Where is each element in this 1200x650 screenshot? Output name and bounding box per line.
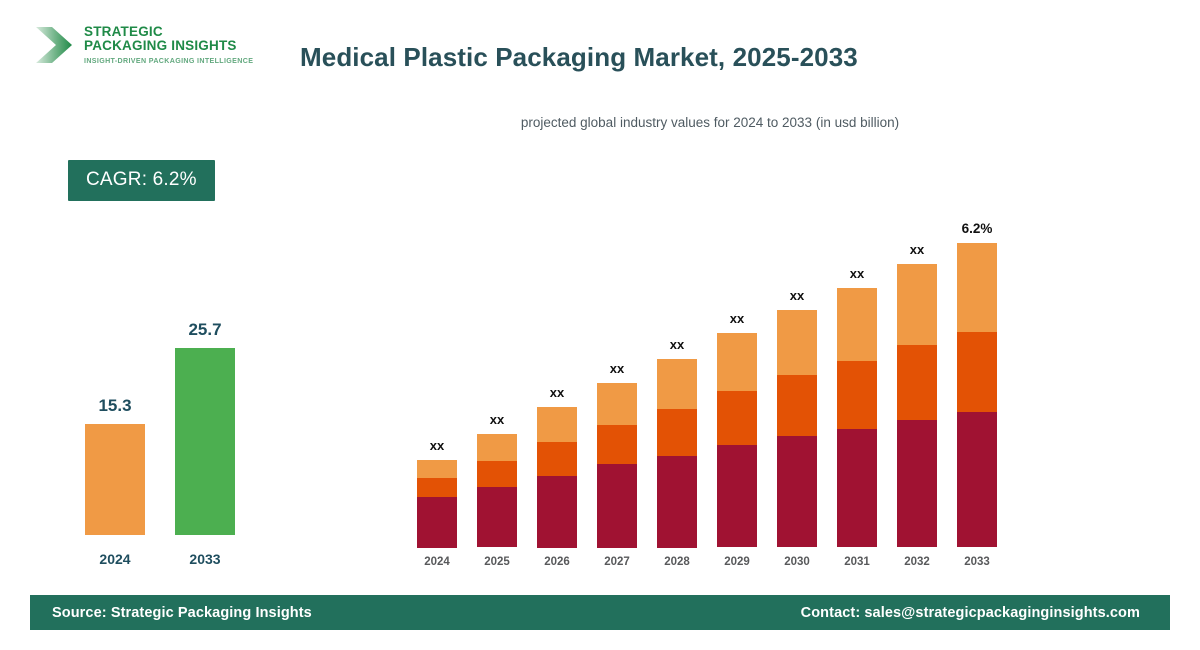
forecast-bar-segment-segment-3 (597, 383, 637, 425)
forecast-bar-segment-segment-3 (837, 288, 877, 361)
forecast-stacked-bar (717, 333, 757, 547)
forecast-bar-segment-segment-1 (537, 476, 577, 548)
forecast-bar-segment-segment-3 (477, 434, 517, 461)
footer-bar: Source: Strategic Packaging Insights Con… (30, 595, 1170, 630)
forecast-stacked-bar (477, 434, 517, 547)
forecast-bar-value-label: 6.2% (917, 221, 1037, 236)
forecast-bar-segment-segment-2 (657, 409, 697, 456)
forecast-stacked-bar (777, 310, 817, 547)
forecast-bar-segment-segment-2 (537, 442, 577, 476)
page-title: Medical Plastic Packaging Market, 2025-2… (300, 42, 1120, 73)
forecast-bar-segment-segment-3 (957, 243, 997, 332)
endpoint-comparison-chart: 15.3202425.72033 (50, 300, 300, 570)
endpoint-bar-value-label: 25.7 (145, 320, 265, 340)
forecast-bar-segment-segment-3 (537, 407, 577, 442)
forecast-bar-segment-segment-1 (837, 429, 877, 547)
forecast-stacked-bar (417, 460, 457, 547)
forecast-bar-group: xx2024 (417, 227, 457, 547)
forecast-bar-segment-segment-1 (417, 497, 457, 548)
logo-line-2: PACKAGING INSIGHTS (84, 39, 253, 53)
infographic-canvas: STRATEGIC PACKAGING INSIGHTS INSIGHT-DRI… (0, 0, 1200, 650)
endpoint-bar-group: 25.72033 (175, 335, 235, 535)
logo-tagline: INSIGHT-DRIVEN PACKAGING INTELLIGENCE (84, 58, 253, 65)
forecast-stacked-bar (837, 288, 877, 547)
forecast-bar-segment-segment-1 (477, 487, 517, 547)
forecast-bar-group: xx2026 (537, 227, 577, 547)
forecast-bar-segment-segment-1 (897, 420, 937, 547)
page-subtitle: projected global industry values for 202… (300, 115, 1120, 130)
forecast-bar-segment-segment-2 (597, 425, 637, 464)
forecast-bar-group: xx2027 (597, 227, 637, 547)
forecast-chart-plot-area: xx2024xx2025xx2026xx2027xx2028xx2029xx20… (400, 227, 1020, 547)
endpoint-chart-plot-area: 15.3202425.72033 (50, 335, 300, 535)
forecast-bar-group: 6.2%2033 (957, 227, 997, 547)
forecast-bar-segment-segment-1 (777, 436, 817, 547)
endpoint-bar (85, 424, 145, 535)
forecast-bar-segment-segment-1 (957, 412, 997, 547)
forecast-bar-segment-segment-3 (657, 359, 697, 409)
endpoint-bar-value-label: 15.3 (55, 396, 175, 416)
forecast-stacked-bar (957, 243, 997, 547)
footer-contact: Contact: sales@strategicpackaginginsight… (801, 605, 1148, 621)
forecast-bar-segment-segment-1 (717, 445, 757, 547)
forecast-bar-segment-segment-2 (897, 345, 937, 420)
footer-source: Source: Strategic Packaging Insights (52, 605, 312, 621)
endpoint-bar-group: 15.32024 (85, 335, 145, 535)
forecast-bar-segment-segment-3 (417, 460, 457, 478)
forecast-bar-category-label: 2033 (917, 556, 1037, 568)
forecast-bar-segment-segment-2 (417, 478, 457, 497)
forecast-stacked-bar (597, 383, 637, 547)
forecast-stacked-bar (657, 359, 697, 547)
forecast-bar-segment-segment-2 (477, 461, 517, 487)
endpoint-bar-category-label: 2033 (145, 551, 265, 567)
forecast-bar-group: xx2028 (657, 227, 697, 547)
forecast-stacked-bar (537, 407, 577, 547)
forecast-bar-segment-segment-3 (777, 310, 817, 375)
segment-forecast-chart: xx2024xx2025xx2026xx2027xx2028xx2029xx20… (400, 190, 1020, 570)
forecast-bar-group: xx2029 (717, 227, 757, 547)
chevron-right-icon (30, 21, 78, 69)
forecast-bar-segment-segment-2 (837, 361, 877, 429)
forecast-bar-segment-segment-2 (957, 332, 997, 412)
forecast-bar-segment-segment-1 (597, 464, 637, 548)
forecast-bar-segment-segment-2 (717, 391, 757, 445)
cagr-badge: CAGR: 6.2% (68, 160, 215, 201)
forecast-bar-segment-segment-3 (717, 333, 757, 391)
forecast-stacked-bar (897, 264, 937, 547)
forecast-bar-group: xx2031 (837, 227, 877, 547)
logo-line-1: STRATEGIC (84, 25, 253, 39)
brand-logo: STRATEGIC PACKAGING INSIGHTS INSIGHT-DRI… (30, 14, 260, 76)
endpoint-bar (175, 348, 235, 535)
forecast-bar-segment-segment-3 (897, 264, 937, 345)
forecast-bar-segment-segment-2 (777, 375, 817, 436)
forecast-bar-segment-segment-1 (657, 456, 697, 548)
forecast-bar-group: xx2032 (897, 227, 937, 547)
